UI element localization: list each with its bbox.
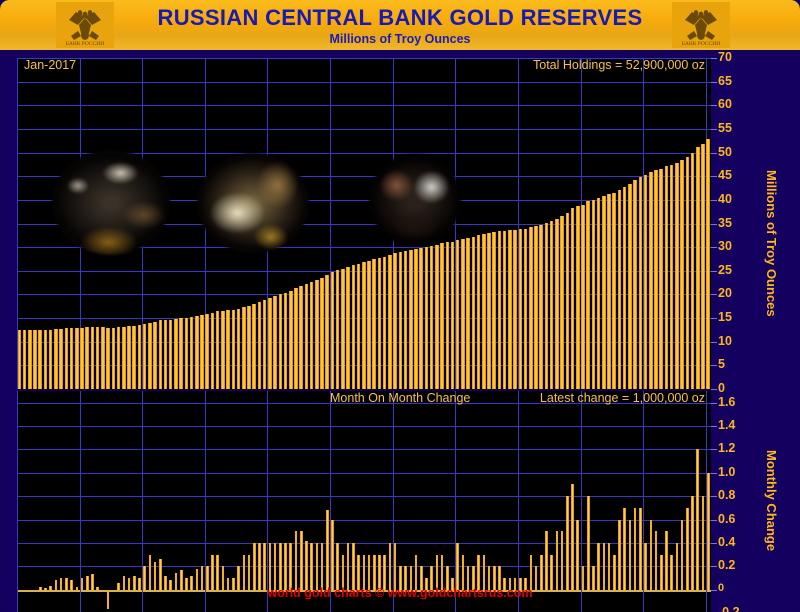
bar xyxy=(363,555,366,590)
bar xyxy=(149,555,152,590)
tick-mark xyxy=(711,543,717,544)
y-tick-label: 1.0 xyxy=(718,465,735,479)
bar xyxy=(629,520,632,590)
bar xyxy=(670,165,674,389)
bar xyxy=(681,520,684,590)
bar xyxy=(336,270,340,389)
bar xyxy=(54,329,58,389)
bar xyxy=(28,330,32,389)
tick-mark xyxy=(711,294,717,295)
bar xyxy=(612,193,616,389)
bar xyxy=(644,175,648,389)
gold-reserves-axis-title: Millions of Troy Ounces xyxy=(764,170,779,317)
bar xyxy=(127,326,131,389)
tick-mark xyxy=(711,153,717,154)
bar xyxy=(498,231,502,389)
chart-panel: Jan-2017 Total Holdings = 52,900,000 oz … xyxy=(0,50,800,612)
bar xyxy=(561,531,564,589)
y-tick-label: 55 xyxy=(718,121,732,135)
bar xyxy=(362,262,366,389)
bar xyxy=(248,555,251,590)
svg-text:БАНК РОССИИ: БАНК РОССИИ xyxy=(682,41,721,47)
bar xyxy=(289,543,292,590)
bar xyxy=(195,316,199,389)
bar xyxy=(211,555,214,590)
y-tick-label: 0.2 xyxy=(718,558,735,572)
bar xyxy=(534,226,538,389)
bar xyxy=(503,231,507,389)
bar xyxy=(310,543,313,590)
bar xyxy=(368,555,371,590)
bar xyxy=(665,166,669,389)
bar xyxy=(274,543,277,590)
bar xyxy=(310,282,314,389)
bar xyxy=(284,543,287,590)
bar xyxy=(315,280,319,389)
credit-text: world gold charts © www.goldchartsrus.co… xyxy=(0,586,800,600)
bar xyxy=(586,201,590,389)
y-tick-label: 1.4 xyxy=(718,418,735,432)
latest-change-label: Latest change = 1,000,000 oz xyxy=(540,391,705,405)
bar xyxy=(409,250,413,389)
bar xyxy=(294,288,298,389)
bar xyxy=(85,327,89,389)
bar xyxy=(472,237,476,389)
tick-mark xyxy=(711,271,717,272)
tick-mark xyxy=(711,496,717,497)
tick-mark xyxy=(711,318,717,319)
y-tick-label: 0.4 xyxy=(718,535,735,549)
bar xyxy=(284,293,288,389)
bar xyxy=(289,291,293,389)
bar xyxy=(540,555,543,590)
bar xyxy=(477,235,481,389)
bar xyxy=(347,543,350,590)
bar xyxy=(555,219,559,389)
bar xyxy=(389,543,392,590)
bar xyxy=(320,278,324,389)
bar xyxy=(106,328,110,389)
bar xyxy=(33,330,37,389)
bar xyxy=(367,261,371,389)
bar xyxy=(456,543,459,590)
y-tick-label: 20 xyxy=(718,286,732,300)
bar xyxy=(300,531,303,589)
date-label: Jan-2017 xyxy=(24,58,76,72)
bar xyxy=(148,323,152,389)
bar xyxy=(190,317,194,389)
bar xyxy=(258,543,261,590)
bar xyxy=(388,255,392,389)
bar xyxy=(305,284,309,389)
bar xyxy=(691,496,694,589)
y-tick-label: 5 xyxy=(718,357,725,371)
bar xyxy=(378,555,381,590)
tick-mark xyxy=(711,247,717,248)
bar xyxy=(232,310,236,389)
bar xyxy=(237,309,241,389)
gold-nugget-image-2 xyxy=(197,153,309,253)
bar xyxy=(221,311,225,389)
gridline-h xyxy=(17,129,711,130)
bar xyxy=(216,311,220,389)
bar xyxy=(295,531,298,589)
bar xyxy=(639,177,643,389)
bar xyxy=(676,543,679,590)
bar xyxy=(394,543,397,590)
bar xyxy=(132,326,136,389)
bar xyxy=(550,221,554,389)
bar xyxy=(530,555,533,590)
bar xyxy=(143,324,147,389)
bar xyxy=(18,330,22,389)
bar xyxy=(331,272,335,389)
bar xyxy=(440,243,444,389)
bar xyxy=(466,238,470,389)
bar xyxy=(138,325,142,389)
bar xyxy=(122,327,126,389)
gridline-h xyxy=(17,520,711,521)
tick-mark xyxy=(711,403,717,404)
tick-mark xyxy=(711,82,717,83)
monthly-change-axis-title: Monthly Change xyxy=(764,450,779,551)
bar xyxy=(414,249,418,389)
bar xyxy=(273,296,277,389)
bar xyxy=(618,190,622,389)
bar xyxy=(566,213,570,389)
bar xyxy=(675,163,679,389)
y-tick-label: 50 xyxy=(718,145,732,159)
tick-mark xyxy=(711,176,717,177)
bar xyxy=(243,555,246,590)
month-on-month-label: Month On Month Change xyxy=(330,391,470,405)
russian-central-bank-eagle-emblem-icon-right: БАНК РОССИИ xyxy=(672,2,730,48)
bar xyxy=(634,508,637,590)
bar xyxy=(680,160,684,389)
bar xyxy=(346,267,350,389)
bar xyxy=(659,169,663,389)
bar xyxy=(665,531,668,589)
bar xyxy=(461,239,465,389)
bar xyxy=(618,520,621,590)
bar xyxy=(226,310,230,389)
bar xyxy=(602,196,606,389)
bar xyxy=(378,258,382,389)
bar xyxy=(513,230,517,389)
tick-mark xyxy=(711,389,717,390)
bar xyxy=(508,230,512,389)
bar xyxy=(477,555,480,590)
bar xyxy=(487,233,491,389)
bar xyxy=(252,304,256,389)
bar xyxy=(38,330,42,389)
bar xyxy=(91,327,95,389)
tick-mark xyxy=(711,449,717,450)
bar xyxy=(462,555,465,590)
bar xyxy=(686,508,689,590)
bar xyxy=(372,259,376,389)
bar xyxy=(451,242,455,389)
bar xyxy=(519,229,523,389)
bar xyxy=(655,531,658,589)
bar xyxy=(336,543,339,590)
y-tick-label: 0.6 xyxy=(718,512,735,526)
bar xyxy=(117,327,121,389)
title-bar: БАНК РОССИИ RUSSIAN CENTRAL BANK GOLD RE… xyxy=(0,0,800,50)
y-tick-label: 70 xyxy=(718,50,732,64)
bar xyxy=(483,555,486,590)
bar xyxy=(644,543,647,590)
bar xyxy=(70,328,74,389)
bar xyxy=(446,242,450,389)
bar xyxy=(404,251,408,389)
gridline-v xyxy=(17,391,18,612)
tick-mark xyxy=(711,200,717,201)
tick-mark xyxy=(711,566,717,567)
tick-mark xyxy=(711,224,717,225)
bar xyxy=(571,484,574,589)
gridline-h xyxy=(17,496,711,497)
y-tick-label: 40 xyxy=(718,192,732,206)
bar xyxy=(258,302,262,389)
gridline-h xyxy=(17,426,711,427)
bar xyxy=(185,318,189,389)
bar xyxy=(352,543,355,590)
gold-reserves-chart[interactable] xyxy=(17,58,711,389)
y-tick-label: 25 xyxy=(718,263,732,277)
bar xyxy=(321,543,324,590)
bar xyxy=(613,555,616,590)
bar xyxy=(492,232,496,389)
bar xyxy=(701,144,705,389)
tick-mark xyxy=(711,105,717,106)
bar xyxy=(529,227,533,389)
bar xyxy=(59,329,63,389)
bar xyxy=(263,300,267,389)
y-tick-label: 10 xyxy=(718,334,732,348)
bar xyxy=(242,307,246,389)
chart-window: БАНК РОССИИ RUSSIAN CENTRAL BANK GOLD RE… xyxy=(0,0,800,612)
tick-mark xyxy=(711,129,717,130)
bar xyxy=(279,294,283,389)
tick-mark xyxy=(711,365,717,366)
bar xyxy=(101,327,105,389)
tick-mark xyxy=(711,520,717,521)
bar xyxy=(153,322,157,389)
bar xyxy=(556,531,559,589)
gridline-h xyxy=(17,473,711,474)
gridline-h xyxy=(17,105,711,106)
bar xyxy=(603,543,606,590)
bar xyxy=(268,298,272,389)
bar xyxy=(571,208,575,389)
bar xyxy=(164,320,168,389)
bar xyxy=(23,330,27,389)
bar xyxy=(279,543,282,590)
bar xyxy=(436,555,439,590)
bar xyxy=(581,205,585,389)
bar xyxy=(179,318,183,389)
bar xyxy=(545,223,549,389)
bar xyxy=(608,543,611,590)
bar xyxy=(80,328,84,389)
bar xyxy=(576,206,580,389)
y-tick-label: 45 xyxy=(718,168,732,182)
y-tick-label: 1.2 xyxy=(718,441,735,455)
bar xyxy=(576,520,579,590)
bar xyxy=(415,555,418,590)
bar xyxy=(597,543,600,590)
bar xyxy=(706,139,710,389)
bar xyxy=(352,265,356,389)
gridline-h xyxy=(17,449,711,450)
tick-mark xyxy=(711,473,717,474)
bar xyxy=(325,275,329,389)
bar xyxy=(331,520,334,590)
bar xyxy=(326,510,329,589)
bar xyxy=(696,449,699,589)
y-tick-label: -0.2 xyxy=(718,605,740,612)
bar xyxy=(269,543,272,590)
bar xyxy=(592,200,596,389)
bar xyxy=(357,264,361,389)
bar xyxy=(357,555,360,590)
bar xyxy=(299,286,303,389)
bar xyxy=(441,555,444,590)
total-holdings-label: Total Holdings = 52,900,000 oz xyxy=(533,58,705,72)
bar xyxy=(399,252,403,389)
monthly-change-chart[interactable] xyxy=(17,391,711,612)
bar xyxy=(702,496,705,589)
tick-mark xyxy=(711,58,717,59)
bar xyxy=(639,508,642,590)
bar xyxy=(341,269,345,389)
bar xyxy=(524,229,528,389)
bar xyxy=(649,172,653,389)
bar xyxy=(456,240,460,389)
bar xyxy=(550,555,553,590)
bar xyxy=(654,170,658,389)
bar xyxy=(691,153,695,389)
tick-mark xyxy=(711,426,717,427)
bar xyxy=(49,330,53,389)
bar xyxy=(707,473,710,590)
bar xyxy=(342,555,345,590)
bar xyxy=(686,157,690,389)
y-tick-label: 35 xyxy=(718,216,732,230)
bar xyxy=(607,194,611,389)
bar xyxy=(174,319,178,389)
bar xyxy=(305,541,308,590)
bar xyxy=(383,257,387,389)
bar xyxy=(211,313,215,389)
bar xyxy=(247,306,251,389)
bar xyxy=(200,315,204,389)
bar xyxy=(482,234,486,389)
bar xyxy=(545,531,548,589)
bar xyxy=(216,555,219,590)
bar xyxy=(393,253,397,389)
y-tick-label: 30 xyxy=(718,239,732,253)
bar xyxy=(96,327,100,389)
bar xyxy=(435,245,439,389)
tick-mark xyxy=(711,342,717,343)
y-tick-label: 15 xyxy=(718,310,732,324)
bar xyxy=(650,520,653,590)
bar xyxy=(383,555,386,590)
y-tick-label: 65 xyxy=(718,74,732,88)
bar xyxy=(587,496,590,589)
bar xyxy=(373,555,376,590)
bar xyxy=(623,187,627,389)
bar xyxy=(316,543,319,590)
bar xyxy=(112,328,116,389)
bar xyxy=(159,320,163,389)
bar xyxy=(75,328,79,389)
bar xyxy=(539,225,543,389)
bar xyxy=(419,248,423,389)
bar xyxy=(44,330,48,389)
bar xyxy=(628,184,632,389)
bar xyxy=(65,328,69,389)
gold-nugget-image-3 xyxy=(369,154,461,246)
bar xyxy=(623,508,626,590)
gridline-h xyxy=(17,82,711,83)
bar xyxy=(660,555,663,590)
bar xyxy=(263,543,266,590)
bar xyxy=(425,247,429,389)
bar xyxy=(560,216,564,389)
y-tick-label: 1.6 xyxy=(718,395,735,409)
bar xyxy=(205,314,209,389)
bar xyxy=(566,496,569,589)
bar xyxy=(633,180,637,389)
bar xyxy=(696,147,700,389)
bar xyxy=(597,198,601,389)
y-tick-label: 60 xyxy=(718,97,732,111)
bar xyxy=(670,555,673,590)
bar xyxy=(253,543,256,590)
y-tick-label: 0.8 xyxy=(718,488,735,502)
gold-nugget-image-1 xyxy=(52,150,170,255)
bar xyxy=(169,320,173,390)
bar xyxy=(430,246,434,389)
y-tick-label: 0 xyxy=(718,381,725,395)
